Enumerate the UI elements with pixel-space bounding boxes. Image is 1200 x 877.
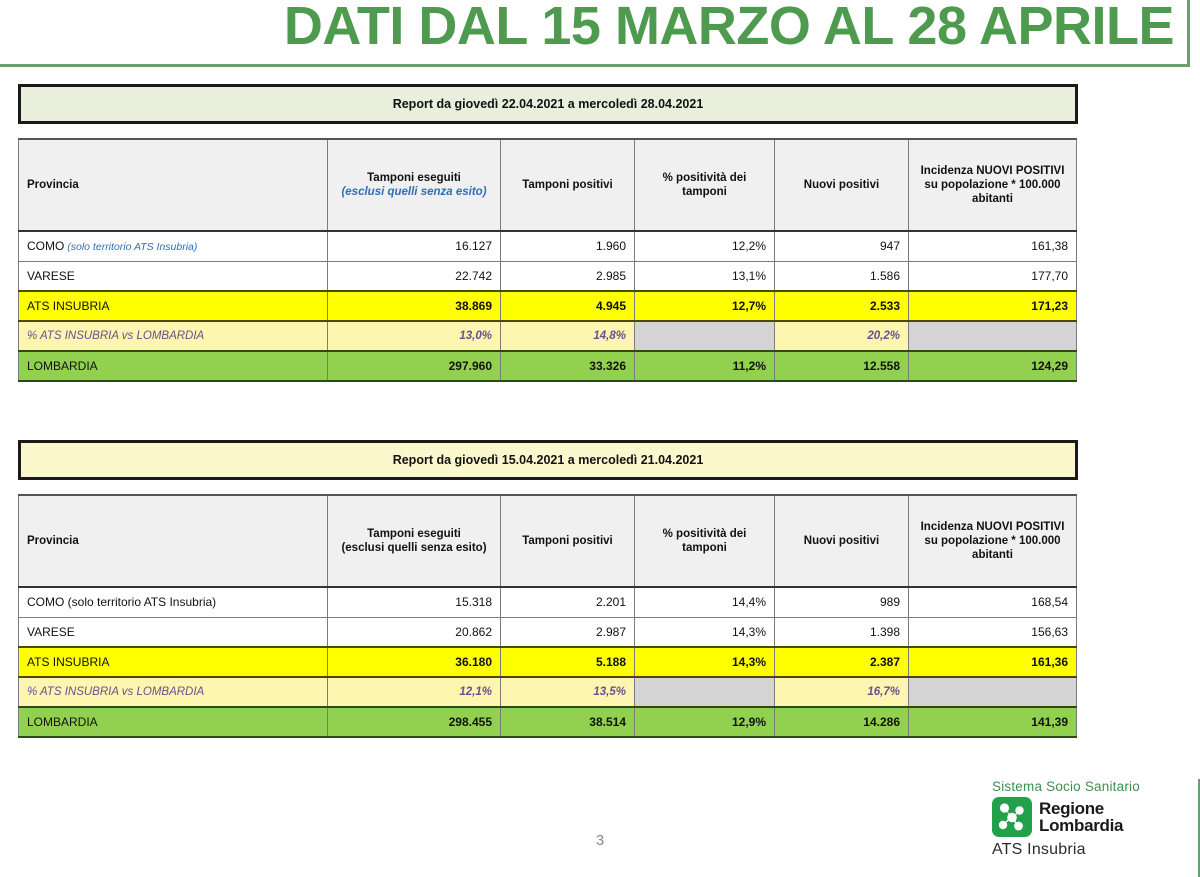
table-row: % ATS INSUBRIA vs LOMBARDIA12,1%13,5%16,…: [19, 677, 1077, 707]
table-row: ATS INSUBRIA36.1805.18814,3%2.387161,36: [19, 647, 1077, 677]
col-percentuale-positivita: % positività dei tamponi: [635, 495, 775, 587]
col-tamponi-eseguiti-sub: (esclusi quelli senza esito): [336, 541, 492, 555]
cell-tamponi-eseguiti: 20.862: [328, 617, 501, 647]
title-horizontal-rule: [0, 64, 1190, 67]
cell-provincia: % ATS INSUBRIA vs LOMBARDIA: [19, 677, 328, 707]
table-row: VARESE22.7422.98513,1%1.586177,70: [19, 261, 1077, 291]
cell-tamponi-positivi: 13,5%: [501, 677, 635, 707]
cell-nuovi-positivi: 12.558: [775, 351, 909, 381]
page-title: DATI DAL 15 MARZO AL 28 APRILE: [284, 0, 1174, 58]
cell-provincia: ATS INSUBRIA: [19, 647, 328, 677]
cell-tamponi-eseguiti: 22.742: [328, 261, 501, 291]
logo-bottom-line: ATS Insubria: [992, 841, 1188, 859]
cell-provincia: COMO (solo territorio ATS Insubria): [19, 587, 328, 617]
col-provincia: Provincia: [19, 495, 328, 587]
col-nuovi-positivi: Nuovi positivi: [775, 139, 909, 231]
cell-tamponi-positivi: 4.945: [501, 291, 635, 321]
cell-tamponi-eseguiti: 36.180: [328, 647, 501, 677]
title-vertical-rule: [1187, 0, 1190, 67]
table-header-row: Provincia Tamponi eseguiti (esclusi quel…: [19, 139, 1077, 231]
cell-nuovi-positivi: 20,2%: [775, 321, 909, 351]
col-incidenza-line3: abitanti: [972, 549, 1013, 561]
col-incidenza-line2: su popolazione * 100.000: [924, 179, 1060, 191]
provincia-label: ATS INSUBRIA: [27, 299, 109, 313]
table-1-body: COMO (solo territorio ATS Insubria)16.12…: [19, 231, 1077, 381]
provincia-label: COMO (solo territorio ATS Insubria): [27, 595, 216, 609]
cell-tamponi-positivi: 38.514: [501, 707, 635, 737]
col-tamponi-positivi: Tamponi positivi: [501, 139, 635, 231]
provincia-label: ATS INSUBRIA: [27, 655, 109, 669]
col-tamponi-eseguiti: Tamponi eseguiti (esclusi quelli senza e…: [328, 139, 501, 231]
ats-insubria-logo: Sistema Socio Sanitario Regione Lombardi…: [992, 779, 1188, 859]
col-incidenza-line3: abitanti: [972, 193, 1013, 205]
cell-tamponi-positivi: 14,8%: [501, 321, 635, 351]
cell-nuovi-positivi: 1.398: [775, 617, 909, 647]
cell-nuovi-positivi: 2.533: [775, 291, 909, 321]
provincia-note: (solo territorio ATS Insubria): [64, 241, 197, 253]
col-tamponi-eseguiti-main: Tamponi eseguiti: [367, 528, 461, 540]
report-banner-2: Report da giovedì 15.04.2021 a mercoledì…: [18, 440, 1078, 480]
table-2-header: Provincia Tamponi eseguiti (esclusi quel…: [19, 495, 1077, 587]
table-row: COMO (solo territorio ATS Insubria)15.31…: [19, 587, 1077, 617]
cell-nuovi-positivi: 2.387: [775, 647, 909, 677]
cell-percentuale-positivita: [635, 677, 775, 707]
col-nuovi-positivi: Nuovi positivi: [775, 495, 909, 587]
cell-tamponi-positivi: 1.960: [501, 231, 635, 261]
table-row: % ATS INSUBRIA vs LOMBARDIA13,0%14,8%20,…: [19, 321, 1077, 351]
cell-incidenza: 177,70: [909, 261, 1077, 291]
cell-incidenza: 171,23: [909, 291, 1077, 321]
provincia-label: LOMBARDIA: [27, 359, 98, 373]
cell-provincia: VARESE: [19, 617, 328, 647]
provincia-label: VARESE: [27, 269, 75, 283]
cell-provincia: ATS INSUBRIA: [19, 291, 328, 321]
col-positivita-line2: tamponi: [682, 186, 727, 198]
cell-percentuale-positivita: 14,3%: [635, 647, 775, 677]
cell-incidenza: [909, 677, 1077, 707]
cell-provincia: % ATS INSUBRIA vs LOMBARDIA: [19, 321, 328, 351]
cell-percentuale-positivita: 14,3%: [635, 617, 775, 647]
table-row: COMO (solo territorio ATS Insubria)16.12…: [19, 231, 1077, 261]
cell-incidenza: [909, 321, 1077, 351]
cell-percentuale-positivita: 12,9%: [635, 707, 775, 737]
report-banner-1: Report da giovedì 22.04.2021 a mercoledì…: [18, 84, 1078, 124]
cell-percentuale-positivita: 13,1%: [635, 261, 775, 291]
col-incidenza-line2: su popolazione * 100.000: [924, 535, 1060, 547]
cell-provincia: VARESE: [19, 261, 328, 291]
cell-tamponi-positivi: 2.985: [501, 261, 635, 291]
cell-nuovi-positivi: 16,7%: [775, 677, 909, 707]
cell-incidenza: 161,36: [909, 647, 1077, 677]
provincia-label: COMO: [27, 239, 64, 253]
col-tamponi-eseguiti: Tamponi eseguiti (esclusi quelli senza e…: [328, 495, 501, 587]
cell-incidenza: 141,39: [909, 707, 1077, 737]
logo-top-line: Sistema Socio Sanitario: [992, 779, 1188, 794]
cell-tamponi-eseguiti: 297.960: [328, 351, 501, 381]
col-incidenza: Incidenza NUOVI POSITIVI su popolazione …: [909, 139, 1077, 231]
cell-provincia: LOMBARDIA: [19, 351, 328, 381]
cell-incidenza: 156,63: [909, 617, 1077, 647]
cell-tamponi-positivi: 5.188: [501, 647, 635, 677]
cell-tamponi-positivi: 2.987: [501, 617, 635, 647]
slide-title-zone: DATI DAL 15 MARZO AL 28 APRILE: [0, 0, 1200, 82]
table-2-body: COMO (solo territorio ATS Insubria)15.31…: [19, 587, 1077, 737]
cell-provincia: COMO (solo territorio ATS Insubria): [19, 231, 328, 261]
cell-tamponi-eseguiti: 298.455: [328, 707, 501, 737]
logo-name: Regione Lombardia: [1039, 800, 1123, 834]
provincia-label: VARESE: [27, 625, 75, 639]
provincia-label: LOMBARDIA: [27, 715, 98, 729]
cell-incidenza: 161,38: [909, 231, 1077, 261]
cell-nuovi-positivi: 947: [775, 231, 909, 261]
cell-incidenza: 168,54: [909, 587, 1077, 617]
col-positivita-line1: % positività dei: [663, 172, 747, 184]
logo-name-line2: Lombardia: [1039, 817, 1123, 834]
provincia-label: % ATS INSUBRIA vs LOMBARDIA: [27, 330, 204, 342]
cell-incidenza: 124,29: [909, 351, 1077, 381]
table-row: ATS INSUBRIA38.8694.94512,7%2.533171,23: [19, 291, 1077, 321]
table-header-row: Provincia Tamponi eseguiti (esclusi quel…: [19, 495, 1077, 587]
page-number: 3: [570, 832, 630, 849]
col-tamponi-eseguiti-main: Tamponi eseguiti: [367, 172, 461, 184]
col-positivita-line1: % positività dei: [663, 528, 747, 540]
logo-name-line1: Regione: [1039, 800, 1123, 817]
col-incidenza-line1: Incidenza NUOVI POSITIVI: [921, 521, 1065, 533]
col-tamponi-positivi: Tamponi positivi: [501, 495, 635, 587]
lombardia-rose-icon: [992, 797, 1032, 837]
cell-tamponi-eseguiti: 13,0%: [328, 321, 501, 351]
cell-provincia: LOMBARDIA: [19, 707, 328, 737]
cell-percentuale-positivita: 11,2%: [635, 351, 775, 381]
cell-tamponi-eseguiti: 38.869: [328, 291, 501, 321]
cell-percentuale-positivita: 12,7%: [635, 291, 775, 321]
report-table-2: Provincia Tamponi eseguiti (esclusi quel…: [18, 494, 1077, 738]
cell-tamponi-eseguiti: 15.318: [328, 587, 501, 617]
table-row: LOMBARDIA297.96033.32611,2%12.558124,29: [19, 351, 1077, 381]
col-incidenza: Incidenza NUOVI POSITIVI su popolazione …: [909, 495, 1077, 587]
cell-percentuale-positivita: 14,4%: [635, 587, 775, 617]
table-1-header: Provincia Tamponi eseguiti (esclusi quel…: [19, 139, 1077, 231]
col-tamponi-eseguiti-sub: (esclusi quelli senza esito): [336, 185, 492, 199]
col-incidenza-line1: Incidenza NUOVI POSITIVI: [921, 165, 1065, 177]
cell-percentuale-positivita: 12,2%: [635, 231, 775, 261]
col-provincia: Provincia: [19, 139, 328, 231]
cell-tamponi-positivi: 2.201: [501, 587, 635, 617]
table-row: LOMBARDIA298.45538.51412,9%14.286141,39: [19, 707, 1077, 737]
table-row: VARESE20.8622.98714,3%1.398156,63: [19, 617, 1077, 647]
report-table-1: Provincia Tamponi eseguiti (esclusi quel…: [18, 138, 1077, 382]
cell-nuovi-positivi: 989: [775, 587, 909, 617]
cell-nuovi-positivi: 1.586: [775, 261, 909, 291]
provincia-label: % ATS INSUBRIA vs LOMBARDIA: [27, 686, 204, 698]
col-positivita-line2: tamponi: [682, 542, 727, 554]
cell-tamponi-eseguiti: 16.127: [328, 231, 501, 261]
cell-percentuale-positivita: [635, 321, 775, 351]
cell-tamponi-positivi: 33.326: [501, 351, 635, 381]
logo-middle: Regione Lombardia: [992, 797, 1188, 837]
col-percentuale-positivita: % positività dei tamponi: [635, 139, 775, 231]
cell-tamponi-eseguiti: 12,1%: [328, 677, 501, 707]
cell-nuovi-positivi: 14.286: [775, 707, 909, 737]
